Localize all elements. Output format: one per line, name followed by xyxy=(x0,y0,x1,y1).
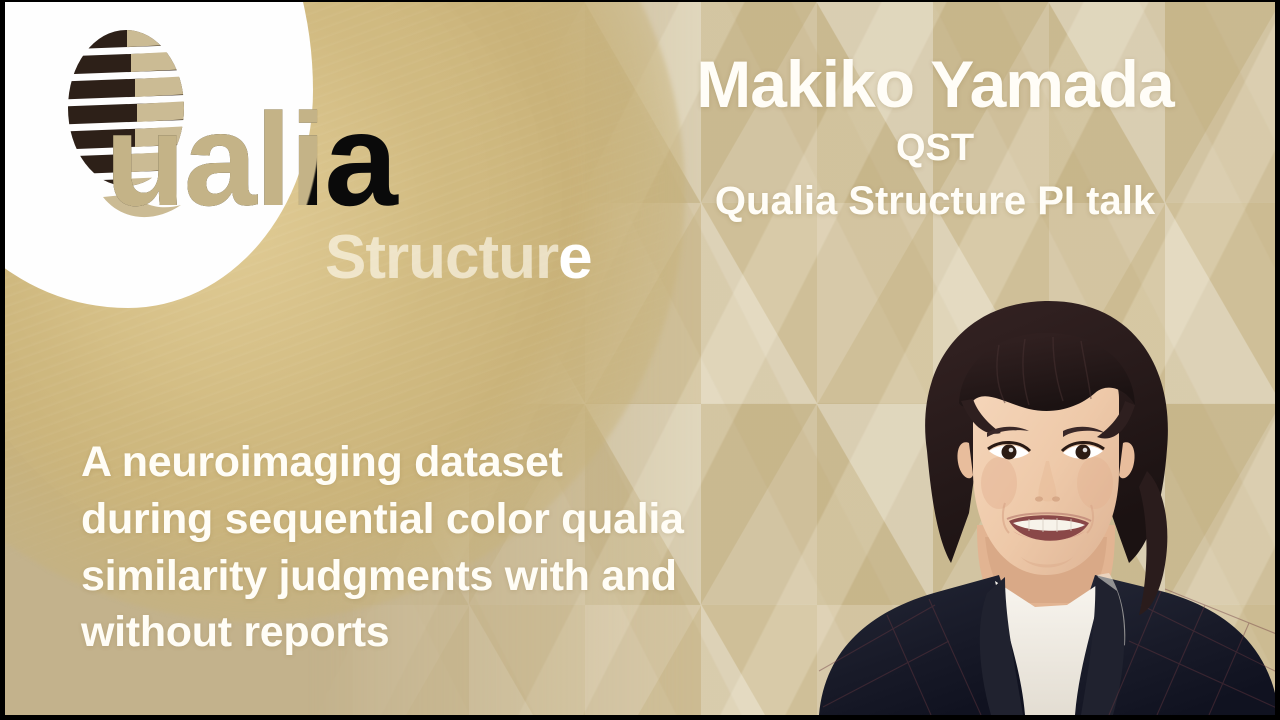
slide-inner: ualia ualia Structure Makiko Yamada QST … xyxy=(5,2,1275,715)
talk-title-line: without reports xyxy=(81,604,841,661)
speaker-portrait xyxy=(809,275,1275,715)
talk-title-line: A neuroimaging dataset xyxy=(81,434,841,491)
talk-title: A neuroimaging dataset during sequential… xyxy=(81,434,841,661)
talk-title-line: similarity judgments with and xyxy=(81,548,841,605)
brand-sub-wordmark-tail: e xyxy=(558,223,591,292)
brand-wordmark-light: ualia xyxy=(105,94,396,226)
brand-sub-wordmark-text: Structur xyxy=(325,223,558,292)
brand-sub-wordmark: Structure xyxy=(325,227,592,289)
speaker-block: Makiko Yamada QST Qualia Structure PI ta… xyxy=(605,50,1265,224)
slide-canvas: ualia ualia Structure Makiko Yamada QST … xyxy=(0,0,1280,720)
speaker-affiliation: QST xyxy=(605,127,1265,171)
speaker-role: Qualia Structure PI talk xyxy=(605,178,1265,224)
talk-title-line: during sequential color qualia xyxy=(81,491,841,548)
speaker-name: Makiko Yamada xyxy=(605,50,1265,119)
